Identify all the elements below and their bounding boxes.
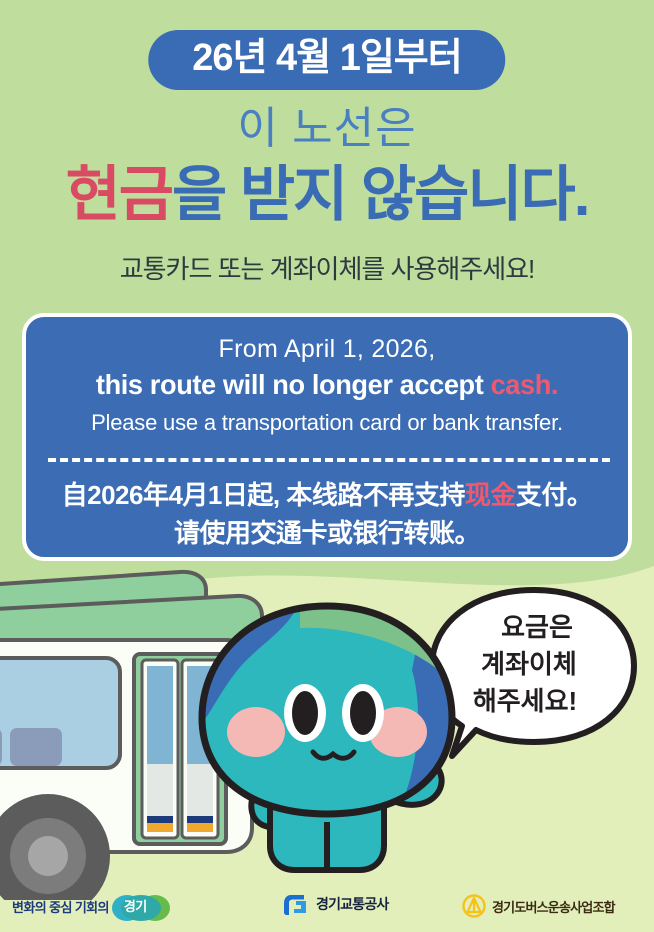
speech-line-2: 계좌이체 xyxy=(481,649,577,679)
gtc-g-icon xyxy=(282,890,310,918)
date-badge: 26년 4월 1일부터 xyxy=(148,30,505,90)
headline-rest: 을 받지 않습니다. xyxy=(172,161,588,228)
chinese-line-1-part-b: 支付。 xyxy=(516,480,593,510)
english-line-2-white: this route will no longer accept xyxy=(96,369,491,400)
english-cash-word: cash. xyxy=(491,369,559,400)
poster-root: 26년 4월 1일부터 이 노선은 현금을 받지 않습니다. 교통카드 또는 계… xyxy=(0,0,654,932)
speech-line-3: 해주세요! xyxy=(473,686,577,716)
multilingual-notice-box: From April 1, 2026, this route will no l… xyxy=(22,313,632,561)
illustration-scene: 요금은 계좌이체 해주세요! xyxy=(0,560,654,900)
gyeonggi-badge-label: 경기 xyxy=(115,894,156,918)
headline-line-2: 현금을 받지 않습니다. xyxy=(0,163,654,226)
logo-bus-association: 경기도버스운송사업조합 xyxy=(462,894,615,918)
chinese-line-1-part-a: 自2026年4月1日起, 本线路不再支持 xyxy=(62,480,465,510)
chinese-line-1: 自2026年4月1日起, 本线路不再支持现金支付。 xyxy=(26,475,628,512)
bus-association-icon xyxy=(462,894,486,918)
dashed-divider xyxy=(48,458,610,462)
english-line-2: this route will no longer accept cash. xyxy=(35,369,619,401)
bus-association-label: 경기도버스운송사업조합 xyxy=(492,897,615,916)
english-line-1: From April 1, 2026, xyxy=(26,335,628,364)
footer-logos: 변화의 중심 기회의 경기 경기교통공사 xyxy=(0,880,654,932)
chinese-line-2: 请使用交通卡或银行转账。 xyxy=(26,513,628,550)
chinese-cash-word: 现金 xyxy=(465,480,516,510)
logo-gyeonggi-transport-corp: 경기교통공사 xyxy=(282,890,388,918)
headline-line-1: 이 노선은 xyxy=(0,106,654,152)
headline-line-3: 교통카드 또는 계좌이체를 사용해주세요! xyxy=(0,255,654,284)
gtc-label: 경기교통공사 xyxy=(316,894,388,914)
cheek-left xyxy=(227,707,285,757)
english-line-3: Please use a transportation card or bank… xyxy=(26,410,628,436)
speech-bubble: 요금은 계좌이체 해주세요! xyxy=(432,590,634,756)
date-badge-label: 26년 4월 1일부터 xyxy=(192,39,461,77)
gyeonggi-slogan: 변화의 중심 기회의 xyxy=(12,897,109,916)
logo-gyeonggi-province: 변화의 중심 기회의 경기 xyxy=(12,894,156,918)
speech-line-1: 요금은 xyxy=(501,612,573,642)
headline-cash-word: 현금 xyxy=(66,161,172,228)
